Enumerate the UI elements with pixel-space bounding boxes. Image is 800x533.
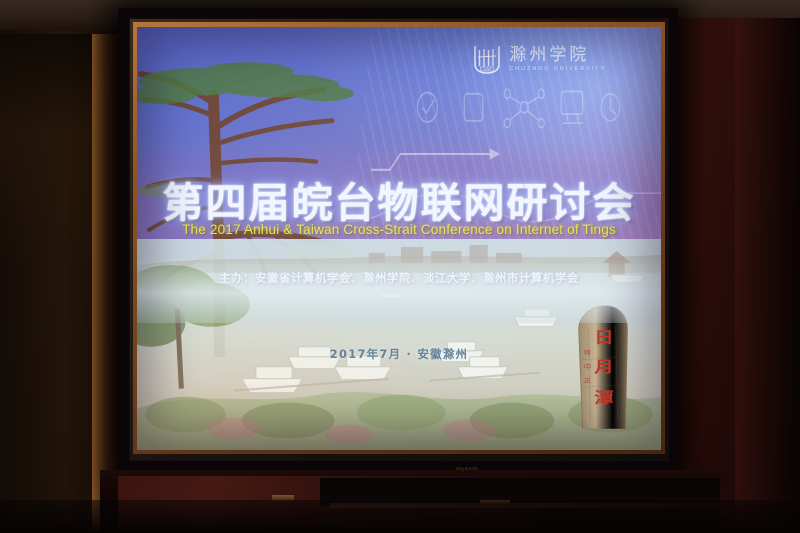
slide-title-chinese: 第四届皖台物联网研讨会 xyxy=(137,169,661,229)
right-wall-column xyxy=(735,18,800,533)
svg-text:正: 正 xyxy=(584,376,592,384)
logo-name-en: CHUZHOU UNIVERSITY xyxy=(509,67,606,72)
floor-shadow xyxy=(0,500,800,533)
projection-screen: 日 月 潭 蒋中正 1950 xyxy=(137,27,661,450)
svg-text:中: 中 xyxy=(584,363,592,371)
svg-text:日: 日 xyxy=(595,329,614,347)
podium-brand-text: Skyworth xyxy=(456,466,478,471)
svg-text:潭: 潭 xyxy=(595,389,615,407)
lake-horizon-haze xyxy=(137,255,661,323)
presentation-slide: 日 月 潭 蒋中正 1950 xyxy=(137,27,661,450)
iot-network-icons xyxy=(409,78,640,146)
emblem-year: 1950 xyxy=(483,67,491,71)
slide-date-location: 2017年7月 · 安徽滁州 xyxy=(137,346,661,362)
slide-subtitle-english: The 2017 Anhui & Taiwan Cross-Strait Con… xyxy=(137,222,661,237)
logo-name-cn: 滁州学院 xyxy=(509,47,606,64)
university-logo: 1950 滁州学院 CHUZHOU UNIVERSITY xyxy=(472,44,606,75)
conference-room-photo: 日 月 潭 蒋中正 1950 xyxy=(0,0,800,533)
chuzhou-university-emblem: 1950 xyxy=(472,44,502,75)
